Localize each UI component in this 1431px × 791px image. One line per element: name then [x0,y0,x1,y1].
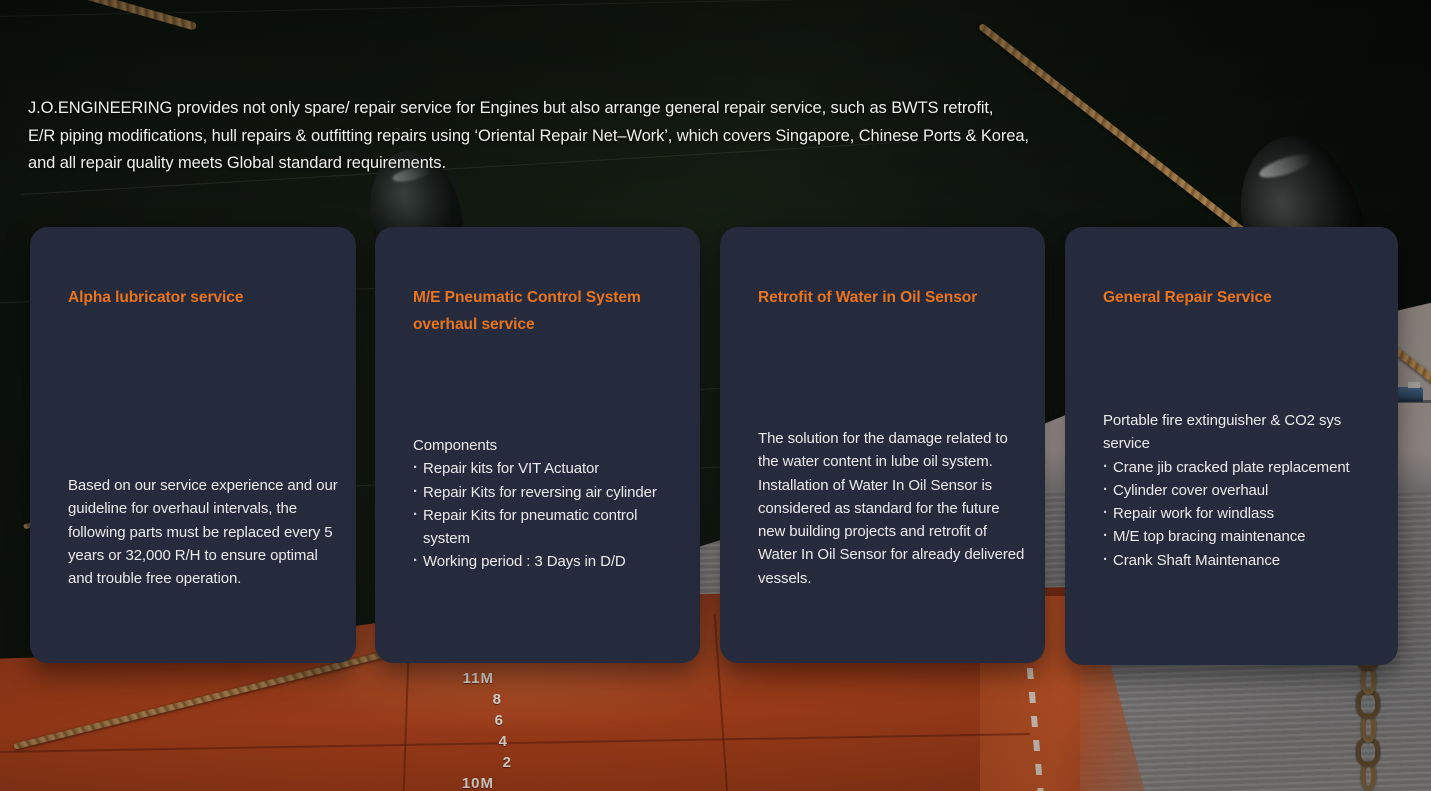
card-body: Based on our service experience and our … [68,474,340,590]
draft-marks: 11M 8 6 4 2 10M [438,668,498,791]
list-item: M/E top bracing maintenance [1103,525,1382,548]
draft-mark: 10M [422,773,498,791]
page-root: 11M 8 6 4 2 10M J.O [0,0,1431,791]
list-item: Repair Kits for reversing air cylinder [413,481,684,504]
draft-mark: 6 [438,710,508,731]
card-lead-text: The solution for the damage related to t… [758,427,1029,590]
card-lead-text: Based on our service experience and our … [68,474,340,590]
intro-paragraph: J.O.ENGINEERING provides not only spare/… [28,95,1118,178]
draft-mark: 4 [438,731,512,752]
card-title: Alpha lubricator service [68,284,334,311]
card-title: Retrofit of Water in Oil Sensor [758,284,1023,311]
intro-line: E/R piping modifications, hull repairs &… [28,123,1118,151]
intro-line: J.O.ENGINEERING provides not only spare/… [28,95,1118,123]
card-bullet-list: Crane jib cracked plate replacement Cyli… [1103,456,1382,572]
draft-mark: 8 [438,689,506,710]
list-item: Cylinder cover overhaul [1103,479,1382,502]
list-item: Crane jib cracked plate replacement [1103,456,1382,479]
list-item: Crank Shaft Maintenance [1103,549,1382,572]
service-cards: Alpha lubricator service Based on our se… [30,227,1398,667]
card-lead-text: Portable fire extinguisher & CO2 sys ser… [1103,409,1382,456]
draft-mark: 11M [420,668,498,689]
card-body: Components Repair kits for VIT Actuator … [413,434,684,574]
service-card-general-repair[interactable]: General Repair Service Portable fire ext… [1065,227,1398,665]
list-item: Repair kits for VIT Actuator [413,457,684,480]
card-body: The solution for the damage related to t… [758,427,1029,590]
card-title: General Repair Service [1103,284,1376,311]
list-item: Repair work for windlass [1103,502,1382,525]
service-card-alpha-lubricator[interactable]: Alpha lubricator service Based on our se… [30,227,356,663]
card-bullet-list: Repair kits for VIT Actuator Repair Kits… [413,457,684,573]
service-card-me-pneumatic-control[interactable]: M/E Pneumatic Control System overhaul se… [375,227,700,663]
card-lead-text: Components [413,434,684,457]
card-title: M/E Pneumatic Control System overhaul se… [413,284,678,338]
draft-mark: 2 [438,752,516,773]
hull-plate-line [0,0,1170,18]
intro-line: and all repair quality meets Global stan… [28,150,1118,178]
list-item: Working period : 3 Days in D/D [413,550,684,573]
service-card-water-in-oil-sensor[interactable]: Retrofit of Water in Oil Sensor The solu… [720,227,1045,663]
card-body: Portable fire extinguisher & CO2 sys ser… [1103,409,1382,572]
list-item: Repair Kits for pneumatic control system [413,504,684,551]
